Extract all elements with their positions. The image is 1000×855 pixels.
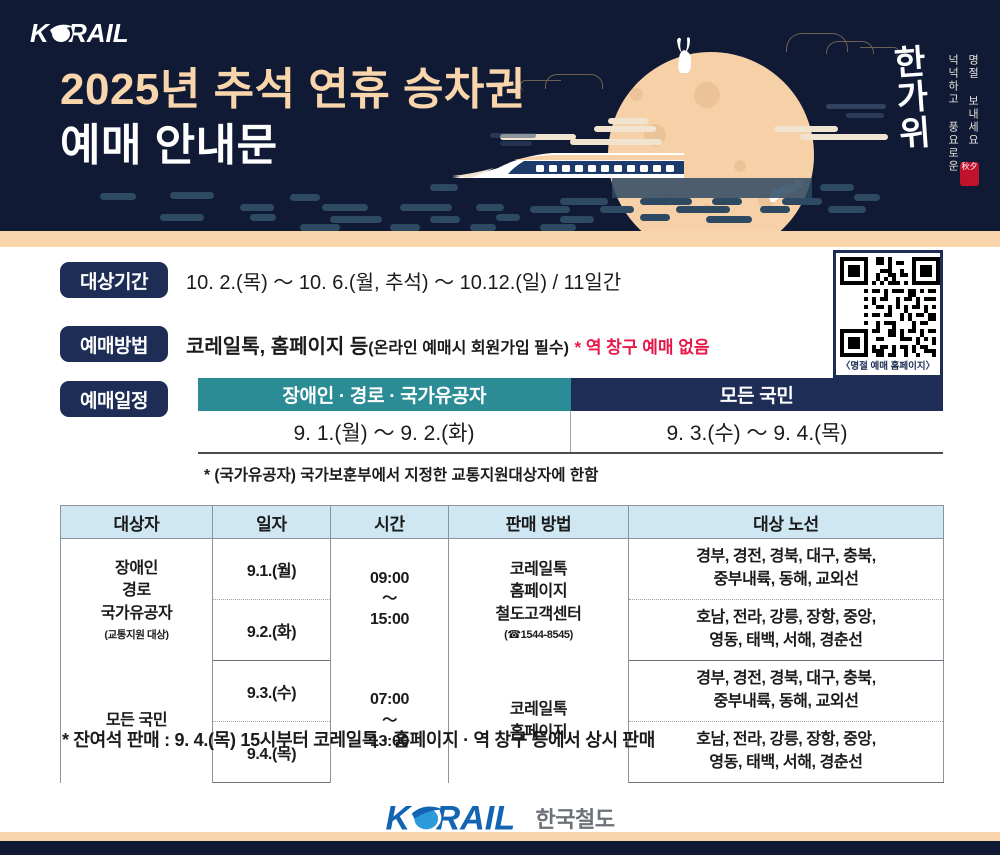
cell-date-g2r1: 9.3.(수) xyxy=(213,661,331,722)
schedule-value-row: 9. 1.(월) ～ 9. 2.(화) 9. 3.(수) ～ 9. 4.(목) xyxy=(198,411,943,454)
qr-code-block[interactable]: 〈명절 예매 홈페이지〉 xyxy=(833,250,943,378)
route-g1r2-line2: 영동, 태백, 서해, 경춘선 xyxy=(632,630,940,653)
table-footnote: * 잔여석 판매 : 9. 4.(목) 15시부터 코레일톡 · 홈페이지 · … xyxy=(62,726,655,752)
route-g2r2-line1: 호남, 전라, 강릉, 장항, 중앙, xyxy=(632,729,940,752)
footer-subtitle: 한국철도 xyxy=(536,802,615,834)
cell-target-group2: 모든 국민 xyxy=(61,661,213,783)
cell-time-group1: 09:00 ～ 15:00 xyxy=(331,539,449,661)
dim-streak-2 xyxy=(846,113,884,118)
target-line-2: 경로 xyxy=(64,580,209,603)
svg-text:RAIL: RAIL xyxy=(68,18,129,48)
table-row: 모든 국민 9.3.(수) 07:00 ～ 13:00 코레일톡 홈페이지 경부… xyxy=(61,661,944,722)
title-line-2: 예매 안내문 xyxy=(60,118,526,174)
korail-logo-header: K RAIL xyxy=(30,16,135,50)
table-header-row: 대상자 일자 시간 판매 방법 대상 노선 xyxy=(61,506,944,539)
cell-route-g1r1: 경부, 경전, 경북, 대구, 충북, 중부내륙, 동해, 교외선 xyxy=(629,539,944,600)
schedule-col1-value: 9. 1.(월) ～ 9. 2.(화) xyxy=(198,411,571,452)
calligraphy-block: 한가위 명절 보내세요 넉넉하고 풍요로운 秋夕 xyxy=(886,46,994,216)
time-sep-1: ～ xyxy=(334,590,445,609)
moon-reflection xyxy=(612,178,812,198)
th-date: 일자 xyxy=(213,506,331,539)
method-paren: (온라인 예매시 회원가입 필수) xyxy=(368,340,569,357)
footer: K RAIL 한국철도 xyxy=(0,787,1000,855)
qr-code-icon[interactable] xyxy=(840,257,940,357)
cloud-streak-4 xyxy=(774,126,838,132)
qr-caption: 〈명절 예매 홈페이지〉 xyxy=(840,357,936,375)
schedule-col1-header: 장애인 · 경로 · 국가유공자 xyxy=(198,378,571,411)
method-line-2: 홈페이지 xyxy=(452,581,625,604)
content-area: 대상기간 10. 2.(목) ～ 10. 6.(월, 추석) ～ 10.12.(… xyxy=(0,247,1000,787)
method-line-1: 코레일톡 xyxy=(452,559,625,582)
cell-route-g2r1: 경부, 경전, 경북, 대구, 충북, 중부내륙, 동해, 교외선 xyxy=(629,661,944,722)
header-peach-divider xyxy=(0,231,1000,247)
cell-method-group2: 코레일톡 홈페이지 xyxy=(449,661,629,783)
cloud-streak-1 xyxy=(570,139,662,145)
title-line-1: 2025년 추석 연휴 승차권 xyxy=(60,62,526,118)
schedule-strip: 장애인 · 경로 · 국가유공자 모든 국민 9. 1.(월) ～ 9. 2.(… xyxy=(198,378,943,485)
method-line-3: 철도고객센터 xyxy=(452,604,625,627)
route-g1r1-line1: 경부, 경전, 경북, 대구, 충북, xyxy=(632,546,940,569)
method-g2-line-1: 코레일톡 xyxy=(452,699,625,722)
cell-method-group1: 코레일톡 홈페이지 철도고객센터 (☎1544-8545) xyxy=(449,539,629,661)
route-g2r1-line2: 중부내륙, 동해, 교외선 xyxy=(632,691,940,714)
chuseok-seal-icon: 秋夕 xyxy=(960,162,979,186)
footer-navy-stripe xyxy=(0,841,1000,855)
poster-title: 2025년 추석 연휴 승차권 예매 안내문 xyxy=(60,62,526,175)
route-g1r1-line2: 중부내륙, 동해, 교외선 xyxy=(632,569,940,592)
customer-center-phone: (☎1544-8545) xyxy=(452,628,625,641)
cell-route-g1r2: 호남, 전라, 강릉, 장항, 중앙, 영동, 태백, 서해, 경춘선 xyxy=(629,600,944,661)
svg-text:K: K xyxy=(30,18,51,48)
time-end-1: 15:00 xyxy=(334,609,445,632)
badge-method: 예매방법 xyxy=(60,326,168,362)
target-sub-1: (교통지원 대상) xyxy=(64,627,209,642)
schedule-note: * (국가유공자) 국가보훈부에서 지정한 교통지원대상자에 한함 xyxy=(204,463,943,485)
table-row: 장애인 경로 국가유공자 (교통지원 대상) 9.1.(월) 09:00 ～ 1… xyxy=(61,539,944,600)
th-target: 대상자 xyxy=(61,506,213,539)
time-start-2: 07:00 xyxy=(334,689,445,712)
header-banner: K RAIL 2025년 추석 연휴 승차권 예매 안내문 xyxy=(0,0,1000,231)
period-value: 10. 2.(목) ～ 10. 6.(월, 추석) ～ 10.12.(일) / … xyxy=(186,266,621,295)
footer-peach-stripe xyxy=(0,832,1000,841)
cell-route-g2r2: 호남, 전라, 강릉, 장항, 중앙, 영동, 태백, 서해, 경춘선 xyxy=(629,722,944,783)
time-start-1: 09:00 xyxy=(334,568,445,591)
poster-root: K RAIL 2025년 추석 연휴 승차권 예매 안내문 xyxy=(0,0,1000,855)
cloud-streak-3 xyxy=(594,126,656,132)
schedule-col2-value: 9. 3.(수) ～ 9. 4.(목) xyxy=(571,411,943,452)
method-main: 코레일톡, 홈페이지 등 xyxy=(186,336,368,358)
target-line-3: 국가유공자 xyxy=(64,603,209,626)
info-row-method: 예매방법 코레일톡, 홈페이지 등(온라인 예매시 회원가입 필수) * 역 창… xyxy=(60,326,709,362)
th-method: 판매 방법 xyxy=(449,506,629,539)
info-row-schedule-badge: 예매일정 xyxy=(60,381,168,417)
route-g2r2-line2: 영동, 태백, 서해, 경춘선 xyxy=(632,752,940,775)
method-value: 코레일톡, 홈페이지 등(온라인 예매시 회원가입 필수) * 역 창구 예매 … xyxy=(186,330,709,359)
rabbit-standing-icon xyxy=(672,36,698,74)
water-reflection xyxy=(0,178,1000,231)
cloud-streak-6 xyxy=(608,118,648,124)
cloud-outline-left-tail xyxy=(520,80,561,91)
cell-date-g1r2: 9.2.(화) xyxy=(213,600,331,661)
badge-period: 대상기간 xyxy=(60,262,168,298)
th-route: 대상 노선 xyxy=(629,506,944,539)
schedule-header-row: 장애인 · 경로 · 국가유공자 모든 국민 xyxy=(198,378,943,411)
dim-streak-1 xyxy=(826,104,886,109)
target-line-1: 장애인 xyxy=(64,558,209,581)
route-g2r1-line1: 경부, 경전, 경북, 대구, 충북, xyxy=(632,668,940,691)
calligraphy-sub-right: 명절 보내세요 xyxy=(964,54,981,147)
cell-date-g1r1: 9.1.(월) xyxy=(213,539,331,600)
calligraphy-hangawi: 한가위 xyxy=(882,44,941,153)
badge-schedule: 예매일정 xyxy=(60,381,168,417)
schedule-col2-header: 모든 국민 xyxy=(571,378,944,411)
route-g1r2-line1: 호남, 전라, 강릉, 장항, 중앙, xyxy=(632,607,940,630)
th-time: 시간 xyxy=(331,506,449,539)
method-warning: * 역 창구 예매 없음 xyxy=(574,338,709,357)
calligraphy-sub-left: 넉넉하고 풍요로운 xyxy=(944,54,961,173)
cell-time-group2: 07:00 ～ 13:00 xyxy=(331,661,449,783)
info-row-period: 대상기간 10. 2.(목) ～ 10. 6.(월, 추석) ～ 10.12.(… xyxy=(60,262,621,298)
cloud-streak-5 xyxy=(800,134,888,140)
cell-target-group1: 장애인 경로 국가유공자 (교통지원 대상) xyxy=(61,539,213,661)
